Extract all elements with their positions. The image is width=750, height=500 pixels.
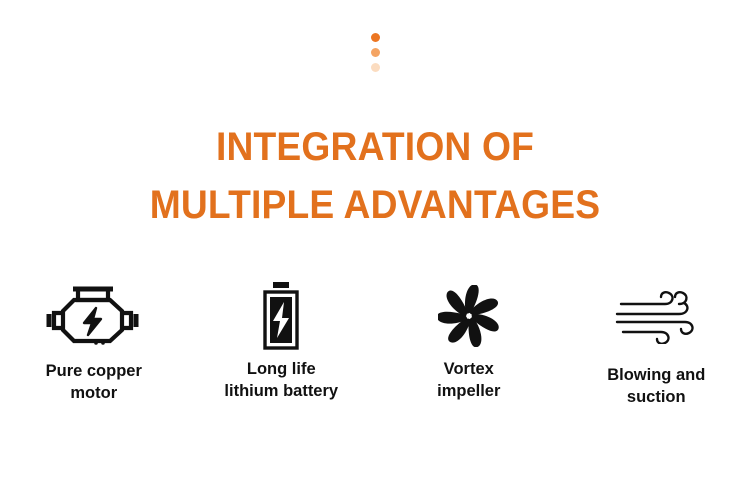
engine-motor-icon [44, 280, 144, 352]
dot-light-icon [371, 63, 380, 72]
feature-label: Pure copper motor [46, 360, 142, 404]
feature-list: Pure copper motor Long life [0, 280, 750, 408]
vortex-impeller-icon [438, 280, 500, 352]
feature-label-line-1: Blowing and [607, 366, 705, 384]
page-title: INTEGRATION OF MULTIPLE ADVANTAGES [0, 118, 750, 234]
feature-label: Long life lithium battery [224, 358, 338, 402]
feature-item-vortex-impeller: Vortex impeller [380, 280, 558, 402]
decorative-dots [0, 33, 750, 72]
page-title-line-2: MULTIPLE ADVANTAGES [26, 176, 724, 234]
feature-label: Vortex impeller [437, 358, 500, 402]
promo-slide: INTEGRATION OF MULTIPLE ADVANTAGES [0, 0, 750, 500]
feature-label-line-1: Long life [247, 360, 316, 378]
feature-label-line-2: lithium battery [224, 382, 338, 400]
feature-label-line-2: impeller [437, 382, 500, 400]
feature-item-blowing-suction: Blowing and suction [567, 280, 745, 408]
feature-item-lithium-battery: Long life lithium battery [192, 280, 370, 402]
feature-label-line-2: suction [627, 388, 686, 406]
battery-charge-icon [257, 280, 305, 352]
feature-label-line-2: motor [70, 384, 117, 402]
feature-label-line-1: Pure copper [46, 362, 142, 380]
feature-item-pure-copper-motor: Pure copper motor [5, 280, 183, 404]
dot-medium-icon [371, 48, 380, 57]
feature-label-line-1: Vortex [444, 360, 494, 378]
wind-blow-icon [615, 280, 697, 352]
feature-label: Blowing and suction [607, 364, 705, 408]
page-title-line-1: INTEGRATION OF [26, 118, 724, 176]
dot-strong-icon [371, 33, 380, 42]
